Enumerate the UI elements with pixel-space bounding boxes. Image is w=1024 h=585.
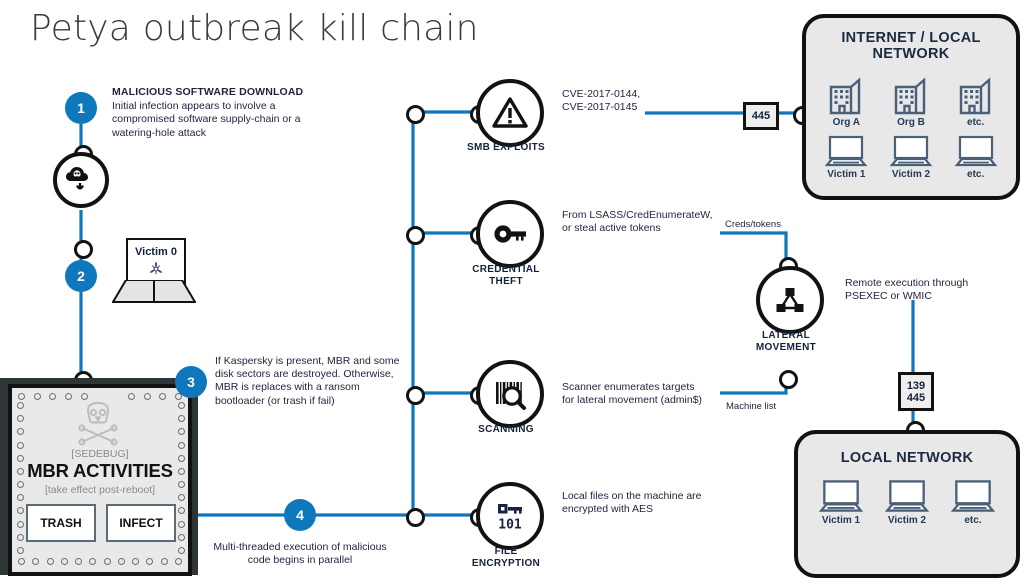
board-pins-right: [178, 402, 185, 554]
device-label-org-etc: etc.: [967, 117, 984, 128]
victim0-device: Victim 0: [112, 238, 196, 304]
skull-cloud-download-glyph: [61, 160, 101, 200]
network-title-internet: INTERNET / LOCAL NETWORK: [806, 30, 1016, 62]
warning-triangle-glyph: [490, 93, 530, 133]
capability-label-smb: SMB EXPLOITS: [446, 142, 566, 154]
infect-button-label: INFECT: [119, 516, 162, 530]
victim0-label: Victim 0: [135, 246, 177, 258]
diagram-canvas: Petya outbreak kill chain 1 MALICIOUS SO…: [0, 0, 1024, 585]
device-victim-etc: etc.: [952, 134, 1000, 180]
key-icon: [476, 200, 544, 268]
device-local-victim-etc: etc.: [948, 478, 998, 526]
barcode-magnifier-glyph: [489, 373, 531, 415]
mbr-bracket-top: [SEDEBUG]: [30, 448, 170, 460]
network-box-local: LOCAL NETWORK Victim 1 Victim 2: [794, 430, 1020, 578]
key-binary-glyph: 101: [490, 496, 530, 536]
device-org-etc: etc.: [955, 74, 997, 128]
wire-node-trunk-enc: [406, 508, 425, 527]
laptop-icon: [948, 478, 998, 514]
step-badge-1-label: 1: [77, 100, 85, 116]
capability-label-scan: SCANNING: [446, 424, 566, 436]
warning-triangle-icon: [476, 79, 544, 147]
wire-node-lateral-bottom: [779, 370, 798, 389]
wire-node-step2: [74, 240, 93, 259]
capability-note-scan: Scanner enumerates targets for lateral m…: [562, 381, 742, 407]
key-binary-icon: 101: [476, 482, 544, 550]
step-badge-2[interactable]: 2: [65, 260, 97, 292]
network-local-row-victims: Victim 1 Victim 2 etc.: [798, 478, 1016, 526]
lateral-in-machines-label: Machine list: [726, 401, 776, 412]
port-box-psexec-line-2: 445: [907, 392, 925, 404]
device-org-b: Org B: [890, 74, 932, 128]
skull-crossbones-icon: [70, 402, 126, 446]
device-victim-1: Victim 1: [822, 134, 870, 180]
laptop-icon: [816, 478, 866, 514]
lateral-in-creds-label: Creds/tokens: [725, 219, 781, 230]
step-badge-4-label: 4: [296, 507, 304, 523]
step-1-body: Initial infection appears to involve a c…: [112, 100, 322, 140]
laptop-icon: [952, 134, 1000, 168]
building-icon: [955, 74, 997, 116]
trash-button[interactable]: TRASH: [26, 504, 96, 542]
device-victim-2: Victim 2: [887, 134, 935, 180]
capability-note-enc: Local files on the machine are encrypted…: [562, 490, 737, 516]
device-label-local-victim-2: Victim 2: [888, 515, 926, 526]
device-label-local-victim-etc: etc.: [964, 515, 981, 526]
laptop-icon: [887, 134, 935, 168]
laptop-icon: [882, 478, 932, 514]
step-badge-3-label: 3: [187, 374, 195, 390]
mbr-board: [SEDEBUG] MBR ACTIVITIES [take effect po…: [8, 384, 192, 576]
page-title: Petya outbreak kill chain: [30, 8, 479, 49]
device-local-victim-2: Victim 2: [882, 478, 932, 526]
step-badge-2-label: 2: [77, 268, 85, 284]
network-nodes-glyph: [770, 280, 810, 320]
board-pins-top: [18, 393, 182, 400]
device-label-victim-etc: etc.: [967, 169, 984, 180]
svg-text:101: 101: [498, 518, 522, 533]
wire-node-trunk-scan: [406, 386, 425, 405]
step-badge-4[interactable]: 4: [284, 499, 316, 531]
lateral-movement-label: LATERAL MOVEMENT: [726, 330, 846, 354]
biohazard-icon: [147, 260, 165, 278]
laptop-icon: [822, 134, 870, 168]
capability-label-enc: FILE ENCRYPTION: [446, 546, 566, 570]
board-pins-bottom: [18, 558, 182, 565]
victim0-screen: Victim 0: [126, 238, 186, 286]
network-nodes-icon: [756, 266, 824, 334]
device-local-victim-1: Victim 1: [816, 478, 866, 526]
wire-node-trunk-cred: [406, 226, 425, 245]
victim0-laptop-base: [112, 280, 196, 304]
key-glyph: [490, 214, 530, 254]
wire-node-trunk-smb: [406, 105, 425, 124]
infect-button[interactable]: INFECT: [106, 504, 176, 542]
device-org-a: Org A: [825, 74, 867, 128]
port-box-smb: 445: [743, 102, 779, 130]
step-1-text: MALICIOUS SOFTWARE DOWNLOAD Initial infe…: [112, 86, 322, 140]
device-label-org-b: Org B: [897, 117, 925, 128]
capability-note-cred: From LSASS/CredEnumerateW, or steal acti…: [562, 209, 732, 235]
step-4-text: Multi-threaded execution of malicious co…: [210, 541, 390, 567]
network-box-internet: INTERNET / LOCAL NETWORK Org A: [802, 14, 1020, 200]
lateral-out-note: Remote execution through PSEXEC or WMIC: [845, 277, 1015, 303]
device-label-org-a: Org A: [833, 117, 860, 128]
device-label-victim-2: Victim 2: [892, 169, 930, 180]
capability-note-smb: CVE-2017-0144, CVE-2017-0145: [562, 88, 682, 114]
building-icon: [825, 74, 867, 116]
network-internet-row-orgs: Org A Org B: [806, 74, 1016, 128]
device-label-victim-1: Victim 1: [827, 169, 865, 180]
port-box-smb-line-1: 445: [752, 110, 770, 122]
mbr-title: MBR ACTIVITIES: [22, 460, 178, 482]
network-title-local: LOCAL NETWORK: [798, 450, 1016, 466]
capability-label-cred: CREDENTIAL THEFT: [446, 264, 566, 288]
building-icon: [890, 74, 932, 116]
mbr-bracket-bottom: [take effect post-reboot]: [24, 484, 176, 496]
step-badge-1[interactable]: 1: [65, 92, 97, 124]
device-label-local-victim-1: Victim 1: [822, 515, 860, 526]
step-badge-3[interactable]: 3: [175, 366, 207, 398]
step-1-heading: MALICIOUS SOFTWARE DOWNLOAD: [112, 86, 322, 99]
trash-button-label: TRASH: [40, 516, 81, 530]
port-box-psexec: 139 445: [898, 372, 934, 411]
step-3-text: If Kaspersky is present, MBR and some di…: [215, 355, 401, 408]
port-box-psexec-line-1: 139: [907, 380, 925, 392]
network-internet-row-victims: Victim 1 Victim 2 etc.: [806, 134, 1016, 180]
barcode-magnifier-icon: [476, 360, 544, 428]
skull-cloud-download-icon: [53, 152, 109, 208]
